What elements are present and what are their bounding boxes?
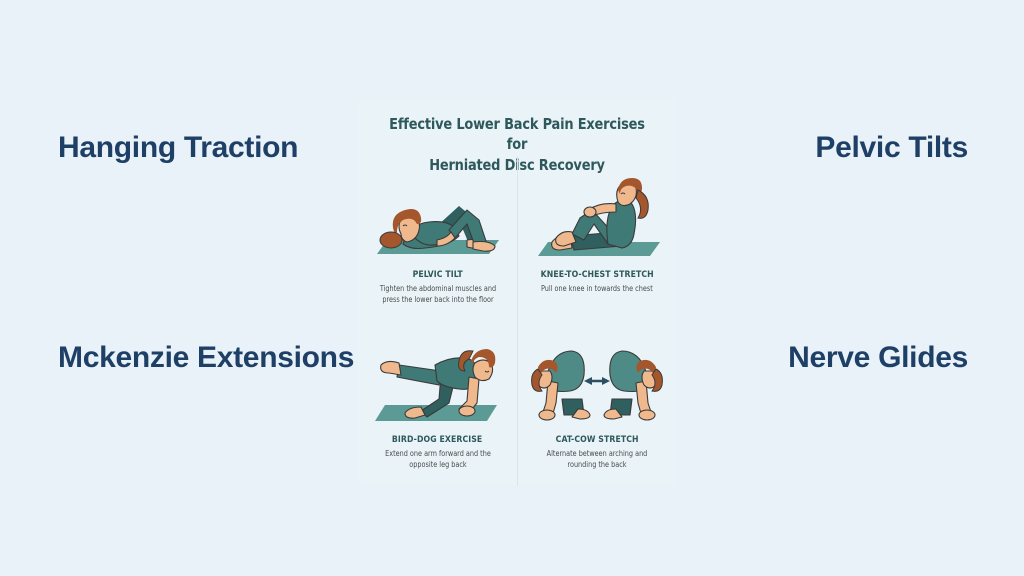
bird-dog-exercise-illustration-icon [358, 321, 517, 429]
page-title-line-1: Effective Lower Back Pain Exercises for [389, 115, 645, 153]
overlay-label-pelvic-tilts: Pelvic Tilts [815, 131, 968, 165]
exercise-panel-bird-dog-exercise: BIRD-DOG EXERCISE Extend one arm forward… [358, 321, 517, 486]
exercise-description: Pull one knee in towards the chest [541, 283, 653, 294]
overlay-label-hanging-traction: Hanging Traction [58, 131, 298, 165]
overlay-label-nerve-glides: Nerve Glides [788, 341, 968, 375]
infographic-card: Effective Lower Back Pain Exercises forH… [358, 98, 676, 486]
exercise-name: KNEE-TO-CHEST STRETCH [540, 269, 653, 280]
overlay-label-mckenzie-extensions: Mckenzie Extensions [58, 341, 354, 375]
exercise-panel-cat-cow-stretch: CAT-COW STRETCH Alternate between archin… [517, 321, 676, 486]
knee-to-chest-stretch-illustration-icon [518, 156, 676, 264]
exercise-description: Extend one arm forward and the opposite … [378, 448, 498, 470]
double-arrow-icon [584, 377, 610, 385]
exercise-description: Alternate between arching and rounding t… [537, 448, 657, 470]
exercise-name: BIRD-DOG EXERCISE [392, 434, 482, 445]
exercise-name: PELVIC TILT [412, 269, 462, 280]
exercise-description: Tighten the abdominal muscles and press … [378, 283, 498, 305]
cat-cow-stretch-illustration-icon [518, 321, 676, 429]
pelvic-tilt-illustration-icon [358, 156, 517, 264]
exercise-panel-grid: PELVIC TILT Tighten the abdominal muscle… [358, 156, 676, 486]
exercise-panel-knee-to-chest-stretch: KNEE-TO-CHEST STRETCH Pull one knee in t… [517, 156, 676, 321]
exercise-panel-pelvic-tilt: PELVIC TILT Tighten the abdominal muscle… [358, 156, 517, 321]
exercise-name: CAT-COW STRETCH [556, 434, 639, 445]
